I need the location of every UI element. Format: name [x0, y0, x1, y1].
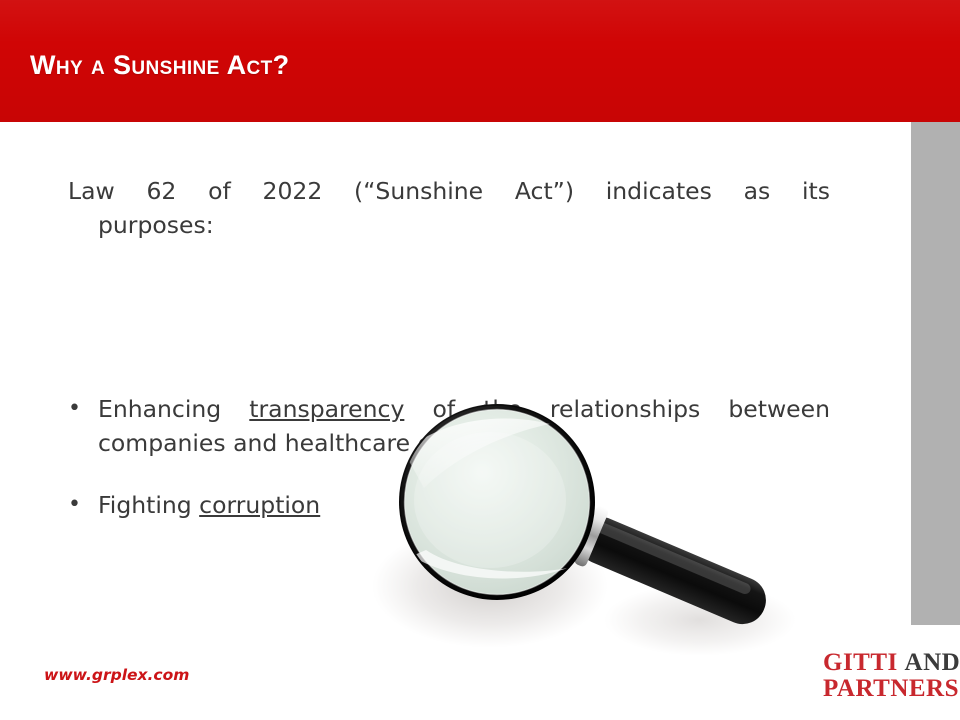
logo-word-partners: PARTNERS: [823, 676, 960, 702]
logo-word-gitti: GITTI: [823, 649, 898, 676]
magnifying-glass-svg: [340, 380, 840, 670]
bullet-marker-icon: •: [68, 488, 92, 522]
lens-inner-glow: [414, 432, 566, 568]
website-url-link[interactable]: www.grplex.com: [44, 666, 189, 684]
keyword-corruption: corruption: [199, 491, 320, 519]
intro-paragraph-line1: Law 62 of 2022 (“Sunshine Act”) indicate…: [68, 174, 830, 208]
intro-paragraph-line2: purposes:: [68, 208, 830, 242]
company-logo: GITTI AND PARTNERS: [823, 650, 960, 702]
logo-space: [898, 649, 905, 676]
magnifying-glass-icon: [340, 380, 840, 670]
magnifier-lens: [399, 404, 595, 600]
list-item-text-before: Enhancing: [98, 395, 249, 423]
slide-header: Why a Sunshine Act?: [0, 0, 960, 122]
intro-paragraph: Law 62 of 2022 (“Sunshine Act”) indicate…: [68, 174, 830, 242]
page-title: Why a Sunshine Act?: [30, 50, 290, 81]
list-item-text-before: Fighting: [98, 491, 199, 519]
bullet-marker-icon: •: [68, 392, 92, 426]
gray-accent-band: [911, 61, 960, 625]
slide-canvas: Why a Sunshine Act? Law 62 of 2022 (“Sun…: [0, 0, 960, 720]
logo-word-and: AND: [905, 649, 960, 676]
